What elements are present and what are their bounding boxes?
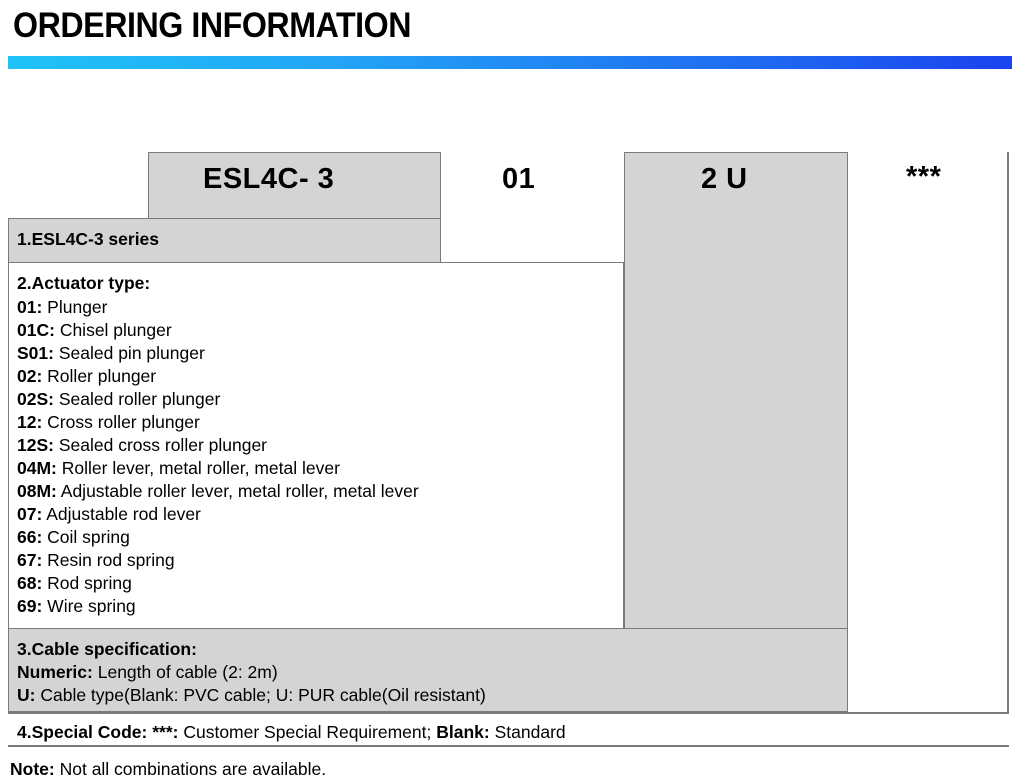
special-code-symbol: ***: [152, 722, 178, 742]
note: Note: Not all combinations are available… [10, 758, 326, 780]
actuator-item-code: 01: [17, 297, 42, 317]
ordering-information-diagram: ESL4C- 3 01 2 U *** 1.ESL4C-3 series 2.A… [0, 0, 1020, 784]
actuator-item: 69: Wire spring [17, 595, 136, 618]
cable-line: U: Cable type(Blank: PVC cable; U: PUR c… [17, 684, 486, 707]
actuator-item-code: 67: [17, 550, 42, 570]
actuator-item-code: 08M: [17, 481, 57, 501]
cable-heading-text: 3.Cable specification: [17, 639, 197, 659]
part-code-cable: 2 U [701, 163, 748, 196]
special-code-blank-desc: Standard [495, 722, 566, 742]
actuator-item-desc: Coil spring [47, 527, 130, 547]
actuator-item-code: 12S: [17, 435, 54, 455]
series-heading: 1.ESL4C-3 series [17, 228, 159, 251]
actuator-heading-text: 2.Actuator type: [17, 273, 150, 293]
actuator-item: 04M: Roller lever, metal roller, metal l… [17, 457, 340, 480]
part-code-actuator: 01 [502, 163, 535, 196]
actuator-item: 01: Plunger [17, 296, 108, 319]
actuator-item-desc: Roller plunger [47, 366, 156, 386]
cable-line-desc: Length of cable (2: 2m) [98, 662, 278, 682]
part-code-series: ESL4C- 3 [203, 163, 334, 196]
actuator-item: 12S: Sealed cross roller plunger [17, 434, 267, 457]
actuator-item: 02S: Sealed roller plunger [17, 388, 220, 411]
series-heading-text: 1.ESL4C-3 series [17, 229, 159, 249]
actuator-item-desc: Sealed cross roller plunger [59, 435, 267, 455]
special-code-label: 4.Special Code: [17, 722, 147, 742]
actuator-item: 66: Coil spring [17, 526, 130, 549]
actuator-item: S01: Sealed pin plunger [17, 342, 205, 365]
actuator-item-code: 12: [17, 412, 42, 432]
cable-line: Numeric: Length of cable (2: 2m) [17, 661, 278, 684]
actuator-item-code: 66: [17, 527, 42, 547]
actuator-item-desc: Rod spring [47, 573, 132, 593]
actuator-item: 12: Cross roller plunger [17, 411, 200, 434]
note-text: Not all combinations are available. [60, 759, 327, 779]
actuator-item-code: 02: [17, 366, 42, 386]
special-code-bottom-rule [8, 745, 1009, 747]
actuator-item: 02: Roller plunger [17, 365, 156, 388]
actuator-item-desc: Adjustable roller lever, metal roller, m… [61, 481, 419, 501]
actuator-item: 07: Adjustable rod lever [17, 503, 201, 526]
cable-line-code: U: [17, 685, 35, 705]
actuator-item-desc: Sealed roller plunger [59, 389, 221, 409]
actuator-item-desc: Chisel plunger [60, 320, 172, 340]
actuator-item: 08M: Adjustable roller lever, metal roll… [17, 480, 419, 503]
special-code-leader-line [1007, 152, 1009, 712]
cable-line-desc: Cable type(Blank: PVC cable; U: PUR cabl… [40, 685, 485, 705]
actuator-item-code: 01C: [17, 320, 55, 340]
actuator-item-code: S01: [17, 343, 54, 363]
special-code-blank-label: Blank: [436, 722, 489, 742]
actuator-item-desc: Roller lever, metal roller, metal lever [62, 458, 340, 478]
actuator-item: 67: Resin rod spring [17, 549, 175, 572]
actuator-item-desc: Wire spring [47, 596, 136, 616]
actuator-item-desc: Sealed pin plunger [59, 343, 205, 363]
actuator-item-code: 69: [17, 596, 42, 616]
actuator-item-desc: Resin rod spring [47, 550, 174, 570]
actuator-item-code: 07: [17, 504, 42, 524]
cable-code-block [624, 152, 848, 629]
actuator-item: 68: Rod spring [17, 572, 132, 595]
cable-heading: 3.Cable specification: [17, 638, 197, 661]
cable-line-code: Numeric: [17, 662, 93, 682]
part-code-special: *** [906, 161, 941, 194]
actuator-heading: 2.Actuator type: [17, 272, 150, 295]
actuator-item-desc: Adjustable rod lever [46, 504, 201, 524]
actuator-item-code: 04M: [17, 458, 57, 478]
actuator-item-code: 68: [17, 573, 42, 593]
actuator-item-desc: Cross roller plunger [47, 412, 200, 432]
note-label: Note: [10, 759, 55, 779]
special-code-line: 4.Special Code: ***: Customer Special Re… [17, 721, 566, 744]
special-code-desc: Customer Special Requirement; [183, 722, 431, 742]
actuator-item-code: 02S: [17, 389, 54, 409]
actuator-item-desc: Plunger [47, 297, 107, 317]
special-code-top-rule [8, 712, 1009, 714]
actuator-item: 01C: Chisel plunger [17, 319, 172, 342]
